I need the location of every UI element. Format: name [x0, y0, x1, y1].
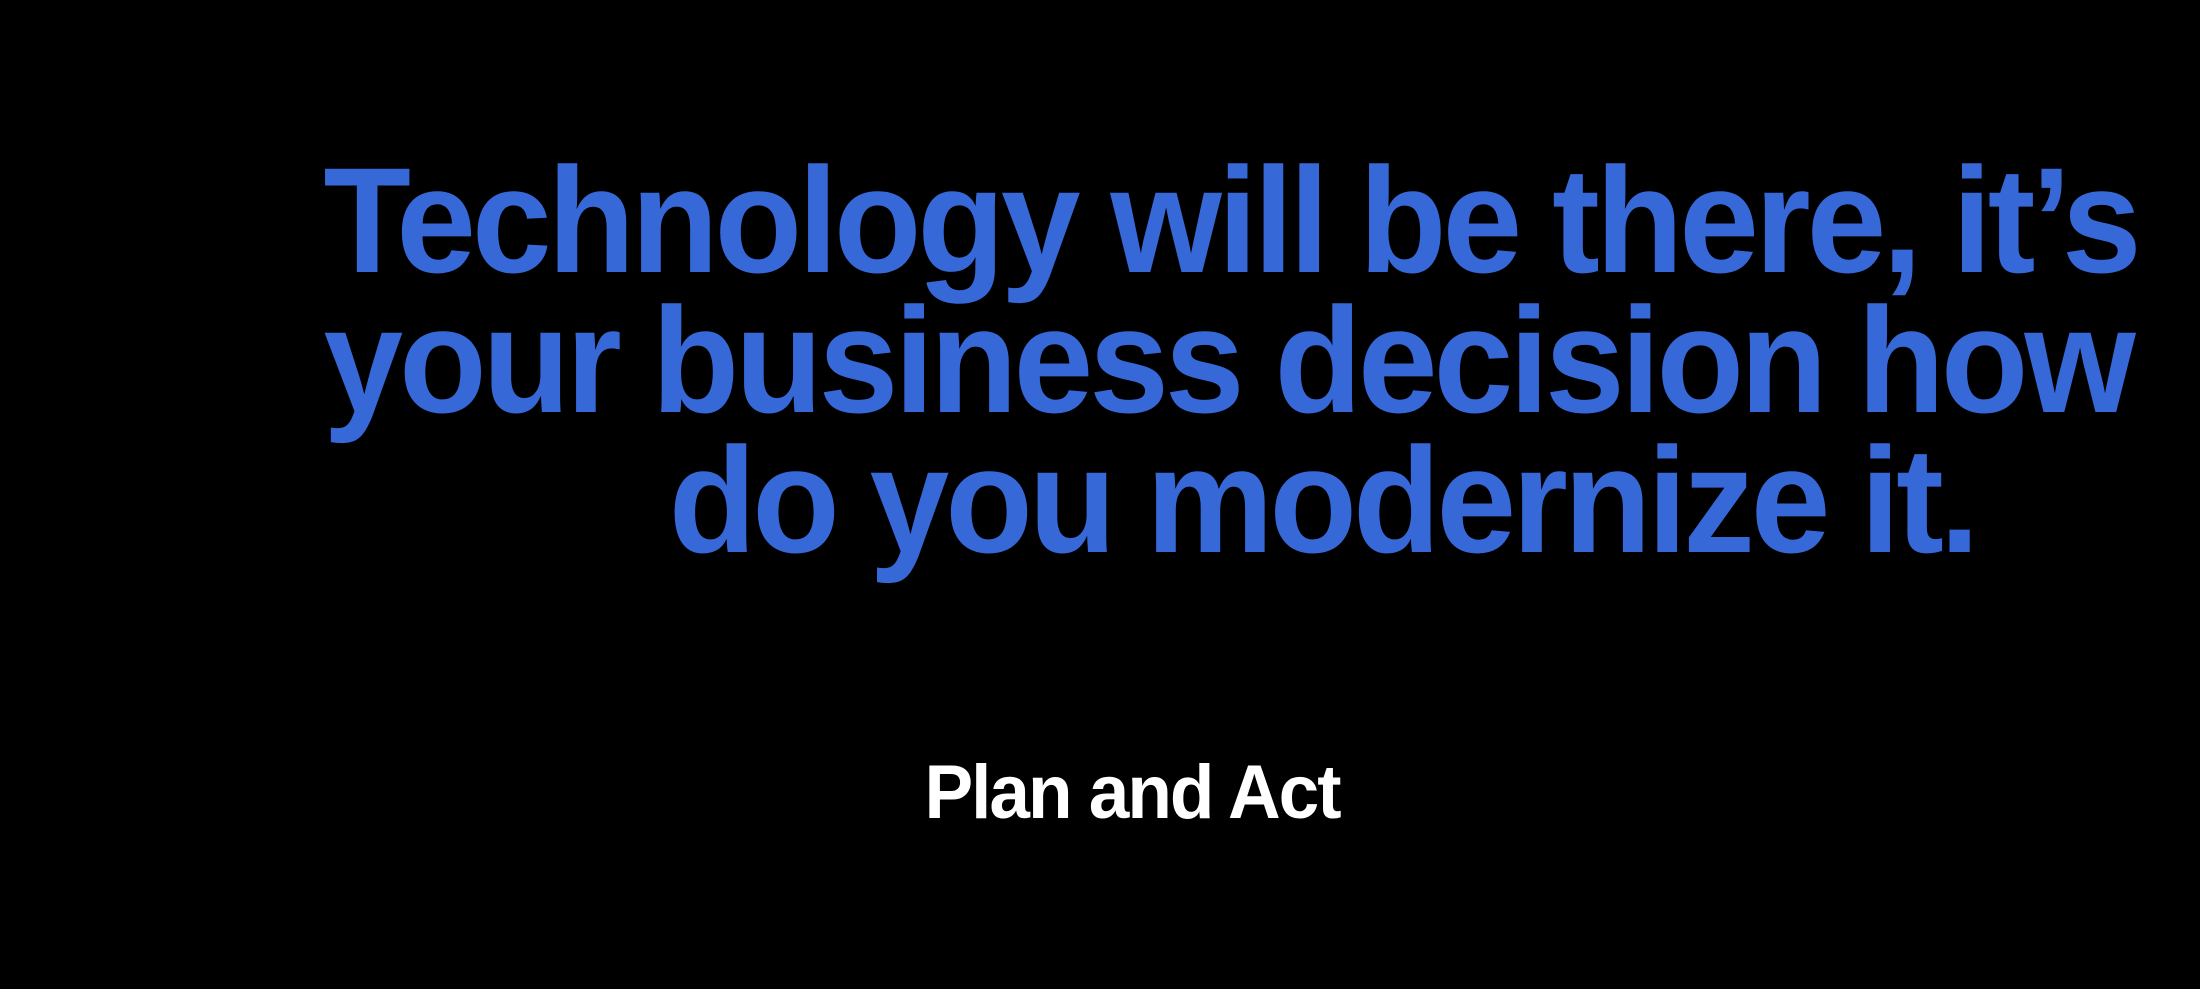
- subtitle-plan-and-act: Plan and Act: [45, 751, 2200, 835]
- slide-canvas: Technology will be there, it’s your busi…: [0, 0, 2200, 989]
- headline-line-1: Technology will be there, it’s: [323, 150, 1975, 290]
- headline-quote: Technology will be there, it’s your busi…: [99, 150, 2200, 570]
- headline-line-3: do you modernize it.: [323, 430, 1975, 570]
- headline-line-2: your business decision how: [323, 290, 1975, 430]
